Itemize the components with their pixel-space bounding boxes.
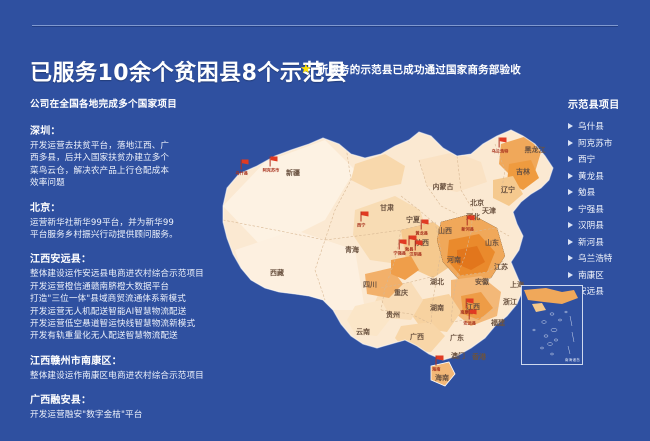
project-block-line: 开发有轨重量化无人配送智慧物流配送: [30, 330, 220, 342]
header-divider: [32, 25, 618, 27]
demo-county-item[interactable]: 汉阴县: [568, 219, 648, 231]
slide-root: 已服务10余个贫困县8个示范县 ★ 所服务的示范县已成功通过国家商务部验收 公司…: [0, 0, 650, 441]
project-block-line: 开发运营低空悬道智运快线智慧物流新模式: [30, 318, 220, 330]
project-block-line: 菜鸟云仓，解决农产品上行仓配成本: [30, 165, 220, 177]
demo-county-label: 乌什县: [578, 120, 604, 132]
demo-county-label: 宁强县: [578, 203, 604, 215]
demo-county-item[interactable]: 宁强县: [568, 203, 648, 215]
demo-county-label: 南康区: [578, 269, 604, 281]
project-detail-list: 深圳：开发运营去扶贫平台，落地江西、广西多县，后并入国家扶贫办建立多个菜鸟云仓，…: [30, 122, 220, 431]
project-block-title: 江西安远县：: [30, 250, 220, 265]
project-block-line: 开发运营无人机配送智能AI智慧物流配送: [30, 306, 220, 318]
hainan-island: [431, 362, 455, 386]
star-icon: ★: [300, 63, 312, 76]
project-block-line: 开发运营融安"数字金桔"平台: [30, 409, 220, 421]
project-block-title: 广西融安县：: [30, 391, 220, 406]
china-map: 新疆西藏青海甘肃宁夏内蒙古陕西山西四川重庆云南贵州广西湖北湖南河南河北北京天津山…: [205, 110, 570, 395]
demo-county-item[interactable]: 阿克苏市: [568, 137, 648, 149]
demo-county-label: 汉阴县: [578, 219, 604, 231]
project-block-line: 效率问题: [30, 177, 220, 189]
project-block-line: 整体建设运作安远县电商进农村综合示范项目: [30, 268, 220, 280]
project-block-line: 开发运营去扶贫平台，落地江西、广: [30, 140, 220, 152]
demo-county-item[interactable]: 勉县: [568, 186, 648, 198]
demo-county-label: 西宁: [578, 153, 595, 165]
demo-county-item[interactable]: 西宁: [568, 153, 648, 165]
south-china-sea-inset: 南海诸岛: [521, 285, 583, 365]
project-block-title: 深圳：: [30, 122, 220, 137]
project-block: 江西安远县：整体建设运作安远县电商进农村综合示范项目开发运营橙信通赣南脐橙大数据…: [30, 250, 220, 342]
project-block: 深圳：开发运营去扶贫平台，落地江西、广西多县，后并入国家扶贫办建立多个菜鸟云仓，…: [30, 122, 220, 190]
project-block: 江西赣州市南康区：整体建设运作南康区电商进农村综合示范项目: [30, 352, 220, 382]
project-block-title: 北京：: [30, 199, 220, 214]
demo-county-label: 勉县: [578, 186, 595, 198]
project-block-line: 开发运营橙信通赣南脐橙大数据平台: [30, 281, 220, 293]
demo-county-label: 乌兰浩特: [578, 252, 612, 264]
demo-county-item[interactable]: 新河县: [568, 236, 648, 248]
demo-county-label: 阿克苏市: [578, 137, 612, 149]
demo-county-label: 黄龙县: [578, 170, 604, 182]
demo-county-panel-title: 示范县项目: [568, 96, 648, 111]
china-map-svg: [205, 110, 570, 395]
project-block-line: 西多县，后并入国家扶贫办建立多个: [30, 152, 220, 164]
demo-county-label: 新河县: [578, 236, 604, 248]
demo-county-item[interactable]: 黄龙县: [568, 170, 648, 182]
project-block: 北京：运营新华社新华99平台，并为新华99平台服务乡村振兴行动提供顾问服务。: [30, 199, 220, 242]
project-block-line: 打造"三位一体"县域商贸流通体系新模式: [30, 293, 220, 305]
south-china-sea-inset-svg: [522, 286, 582, 364]
demo-county-items: 乌什县阿克苏市西宁黄龙县勉县宁强县汉阴县新河县乌兰浩特南康区安远县: [568, 120, 648, 297]
project-block-line: 整体建设运作南康区电商进农村综合示范项目: [30, 370, 220, 382]
verification-badge: ★ 所服务的示范县已成功通过国家商务部验收: [300, 62, 521, 77]
demo-county-item[interactable]: 南康区: [568, 269, 648, 281]
project-block-title: 江西赣州市南康区：: [30, 352, 220, 367]
map-landmass: [205, 110, 570, 395]
demo-county-item[interactable]: 乌什县: [568, 120, 648, 132]
project-block-line: 平台服务乡村振兴行动提供顾问服务。: [30, 229, 220, 241]
project-block: 广西融安县：开发运营融安"数字金桔"平台: [30, 391, 220, 421]
inset-label: 南海诸岛: [565, 358, 580, 363]
demo-county-item[interactable]: 乌兰浩特: [568, 252, 648, 264]
project-block-line: 运营新华社新华99平台，并为新华99: [30, 217, 220, 229]
verification-badge-text: 所服务的示范县已成功通过国家商务部验收: [318, 62, 521, 77]
demo-county-panel: 示范县项目 乌什县阿克苏市西宁黄龙县勉县宁强县汉阴县新河县乌兰浩特南康区安远县: [568, 96, 648, 302]
page-subtitle: 公司在全国各地完成多个国家项目: [30, 96, 177, 110]
